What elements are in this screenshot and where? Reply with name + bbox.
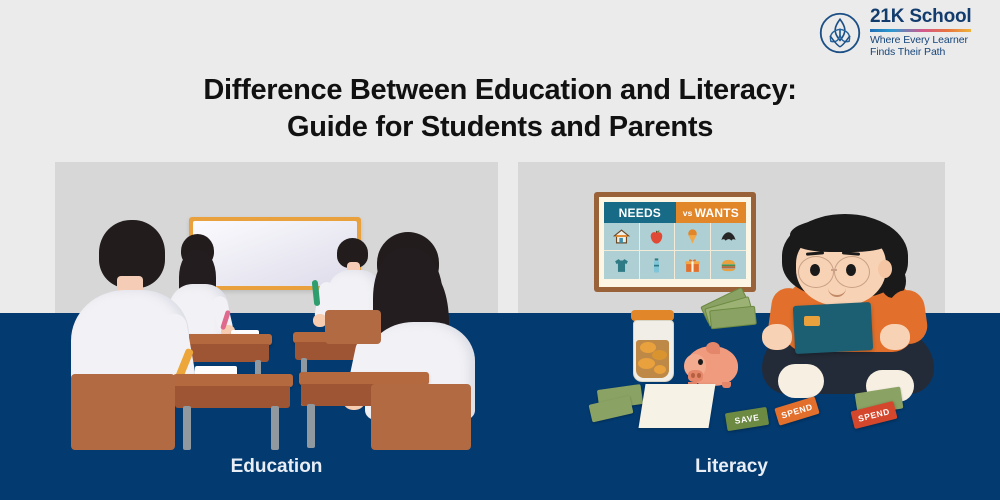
panel-literacy-image: NEEDS vs WANTS (518, 162, 945, 450)
wallet-card-icon (793, 302, 873, 354)
logo-tagline-line1: Where Every Learner (870, 34, 971, 46)
logo-tagline-line2: Finds Their Path (870, 46, 971, 58)
burger-icon (711, 251, 747, 279)
chair-back-right (325, 310, 381, 344)
logo-title: 21K School (870, 7, 971, 27)
poster-header: NEEDS vs WANTS (604, 202, 746, 223)
poster-header-needs: NEEDS (604, 202, 676, 223)
girl-illustration (754, 212, 944, 427)
piggy-bank-icon (684, 340, 739, 388)
panel-education-image (55, 162, 498, 450)
coin-jar-icon (630, 310, 675, 380)
brand-logo[interactable]: 21K School Where Every Learner Finds The… (818, 8, 990, 58)
poster-header-wants-label: WANTS (695, 206, 739, 220)
apple-icon (640, 223, 676, 251)
page-title-line1: Difference Between Education and Literac… (60, 72, 940, 109)
poster-header-vs: vs (683, 208, 693, 218)
page-title-line2: Guide for Students and Parents (60, 109, 940, 146)
page-title: Difference Between Education and Literac… (60, 72, 940, 146)
poster-item-grid (604, 223, 746, 279)
ice-cream-icon (675, 223, 711, 251)
poster-canvas: 21K School Where Every Learner Finds The… (0, 0, 1000, 500)
tshirt-icon (604, 251, 640, 279)
chair-front-left (71, 374, 175, 450)
croissant-icon (711, 223, 747, 251)
water-bottle-icon (640, 251, 676, 279)
cash-fan-icon (700, 290, 755, 335)
logo-gradient-rule (870, 29, 971, 32)
house-icon (604, 223, 640, 251)
lotus-circle-icon (818, 11, 862, 55)
paper-sheet (639, 384, 716, 428)
needs-vs-wants-poster: NEEDS vs WANTS (594, 192, 756, 292)
caption-literacy: Literacy (518, 456, 945, 478)
poster-header-wants: vs WANTS (676, 202, 746, 223)
gift-icon (675, 251, 711, 279)
chair-front-right (371, 384, 471, 450)
caption-education: Education (55, 456, 498, 478)
